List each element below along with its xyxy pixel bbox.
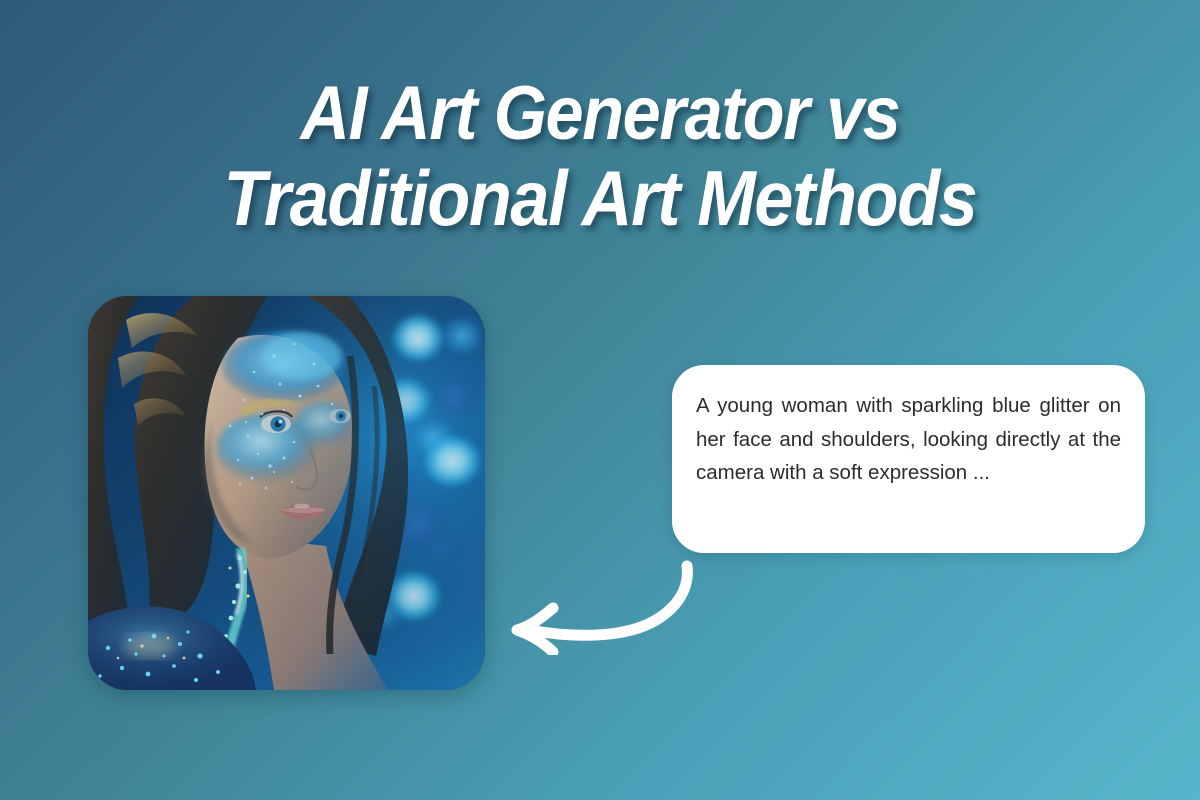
prompt-text: A young woman with sparkling blue glitte… xyxy=(696,389,1121,490)
arrow-annotation xyxy=(495,540,705,655)
generated-portrait-image xyxy=(88,296,485,690)
poster-canvas: AI Art Generator vs Traditional Art Meth… xyxy=(0,0,1200,800)
page-title-line-1: AI Art Generator vs xyxy=(114,72,1086,156)
page-title-line-2: Traditional Art Methods xyxy=(114,156,1086,240)
generated-image-card[interactable] xyxy=(88,296,485,690)
curved-arrow-icon xyxy=(495,540,705,655)
page-title: AI Art Generator vs Traditional Art Meth… xyxy=(0,72,1200,240)
prompt-bubble[interactable]: A young woman with sparkling blue glitte… xyxy=(672,365,1145,553)
